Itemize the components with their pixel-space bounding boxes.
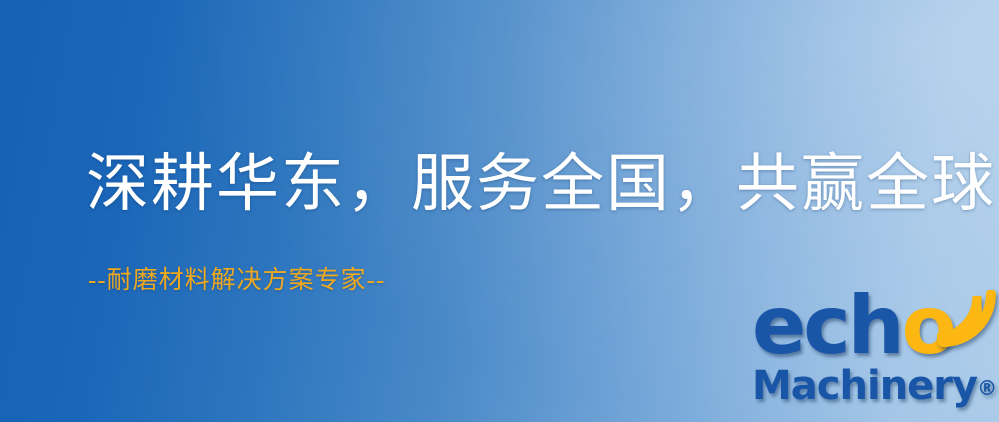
logo-company-name-text: Machinery <box>752 363 977 409</box>
registered-trademark-icon: ® <box>977 376 997 400</box>
banner-headline: 深耕华东，服务全国，共赢全球 <box>86 151 996 217</box>
hero-banner: 深耕华东，服务全国，共赢全球 --耐磨材料解决方案专家-- echo Machi… <box>0 0 999 422</box>
signal-arcs-icon <box>937 290 999 348</box>
company-logo: echo Machinery® <box>748 292 999 418</box>
logo-brand-prefix: ech <box>752 279 902 372</box>
logo-brand-text: echo <box>752 286 954 366</box>
logo-company-name: Machinery® <box>752 366 997 406</box>
banner-subtitle: --耐磨材料解决方案专家-- <box>88 266 385 296</box>
logo-wordmark: echo <box>748 292 999 374</box>
